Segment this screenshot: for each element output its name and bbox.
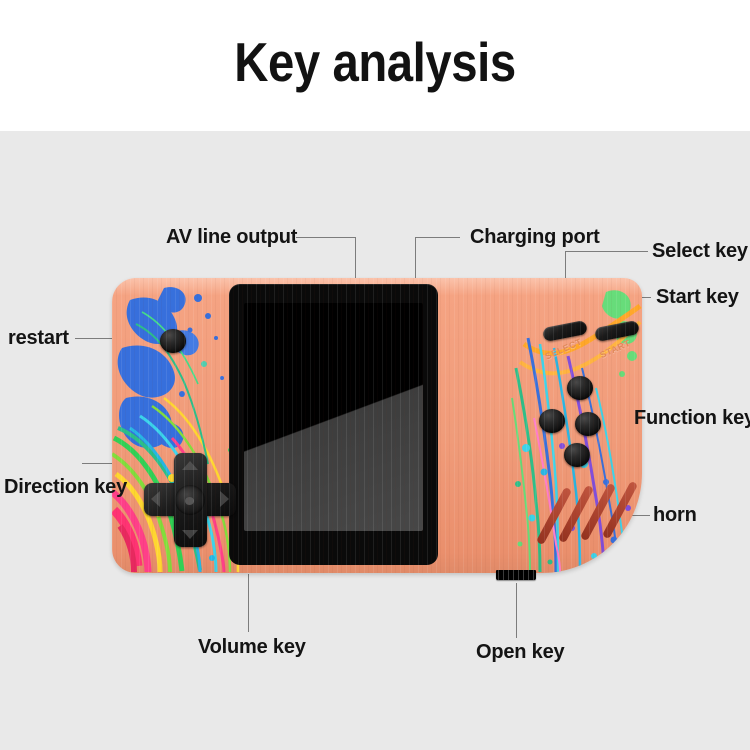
callout-av-line-output: AV line output [166, 226, 297, 249]
infographic-page: Key analysis [0, 0, 750, 750]
callout-charging-port: Charging port [470, 226, 600, 249]
leader-av-line-output-horizontal [296, 237, 355, 238]
function-button-top[interactable] [567, 376, 593, 400]
function-button-bottom[interactable] [564, 443, 590, 467]
callout-open-key: Open key [476, 641, 564, 664]
arrow-left-icon [151, 491, 160, 507]
console-body-shell: SELECT START [112, 278, 642, 573]
lcd-screen [244, 303, 423, 531]
start-button-caption: START [598, 338, 632, 360]
callout-restart: restart [8, 327, 69, 350]
dpad-center [175, 485, 205, 515]
handheld-game-console: SELECT START [112, 278, 642, 573]
arrow-down-icon [182, 530, 198, 539]
arrow-right-icon [220, 491, 229, 507]
restart-button[interactable] [160, 329, 186, 353]
callout-direction-key: Direction key [4, 476, 127, 499]
leader-volume-key [248, 574, 249, 632]
leader-charging-port-horizontal [415, 237, 460, 238]
arrow-up-icon [182, 461, 198, 470]
callout-start-key: Start key [656, 286, 739, 309]
screen-bezel [229, 284, 438, 565]
header-band: Key analysis [0, 0, 750, 131]
diagram-canvas: SELECT START AV line output Char [0, 131, 750, 750]
callout-horn: horn [653, 504, 697, 527]
callout-select-key: Select key [652, 240, 748, 263]
callout-function-key: Function key [634, 407, 750, 430]
page-title: Key analysis [53, 34, 698, 92]
select-button[interactable] [542, 320, 588, 342]
leader-select-key-horizontal [565, 251, 648, 252]
leader-av-line-output-vertical [355, 237, 356, 278]
leader-charging-port-vertical [415, 237, 416, 278]
callout-volume-key: Volume key [198, 636, 306, 659]
speaker-horn-grille [544, 483, 636, 545]
leader-open-key [516, 583, 517, 638]
open-key-switch[interactable] [496, 570, 536, 580]
start-button[interactable] [594, 320, 640, 342]
function-button-right[interactable] [575, 412, 601, 436]
direction-key-dpad[interactable] [144, 453, 236, 547]
function-button-left[interactable] [539, 409, 565, 433]
